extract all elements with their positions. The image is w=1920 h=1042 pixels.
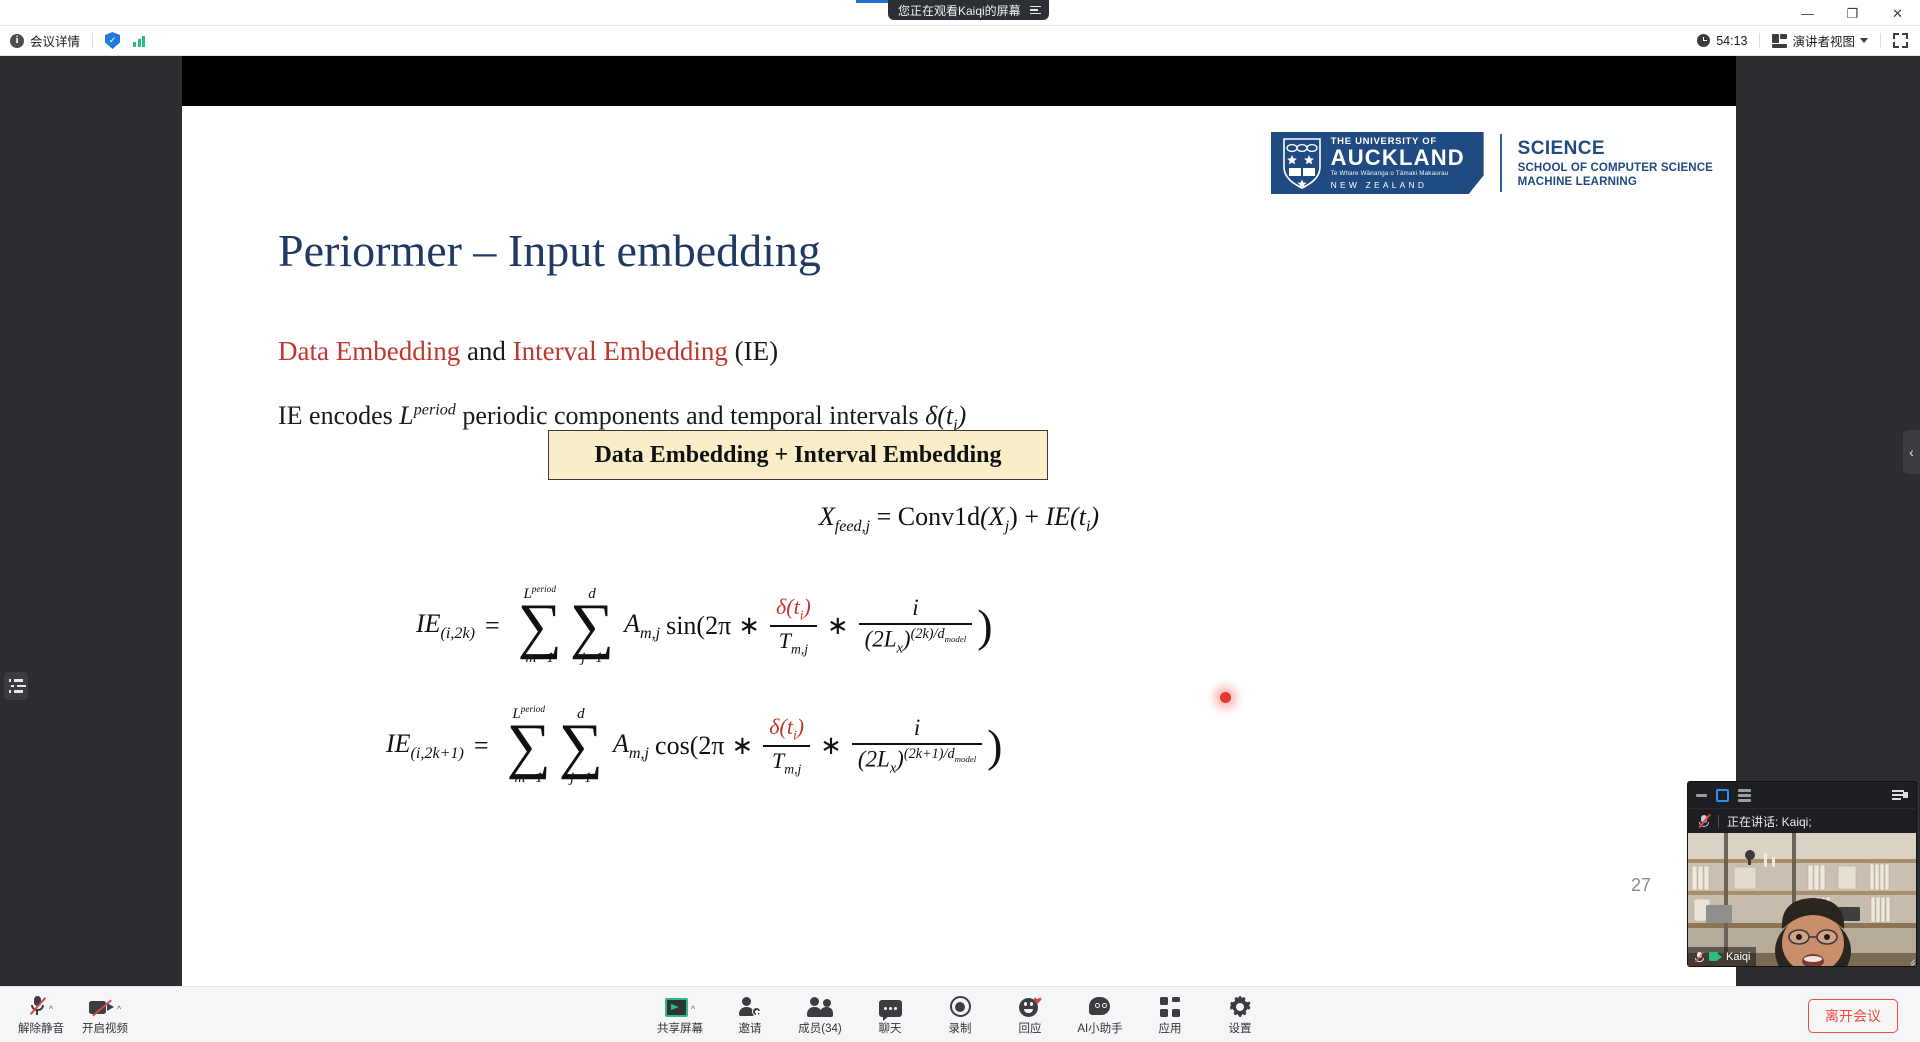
chevron-up-icon[interactable]: ^ — [49, 1004, 53, 1014]
logo-line-2: AUCKLAND — [1331, 147, 1465, 169]
eq1-sum-outer-sym: ∑ — [518, 600, 562, 653]
chevron-down-icon — [1860, 38, 1868, 43]
info-bar-right: 54:13 演讲者视图 — [1697, 31, 1920, 50]
unmute-icon-wrap: ^ — [29, 994, 53, 1017]
share-screen-icon-wrap: ^ — [665, 994, 695, 1017]
video-panel-header-right — [1892, 789, 1908, 801]
presentation-slide[interactable]: THE UNIVERSITY OF AUCKLAND Te Whare Wāna… — [182, 106, 1736, 1042]
slide-top-band — [182, 56, 1736, 106]
record-icon-wrap — [950, 994, 971, 1017]
unmute-button[interactable]: ^ 解除静音 — [10, 989, 72, 1041]
line-a-seg-2: and — [460, 336, 512, 366]
panel-toggle-line — [9, 690, 24, 693]
feed-ie-close: ) — [1090, 502, 1099, 531]
eq1-frac2-den-exp-sub: model — [945, 633, 967, 643]
reaction-label: 回应 — [1019, 1020, 1042, 1036]
eq2-frac1-den: Tm,j — [766, 749, 807, 777]
feed-lhs: X — [819, 502, 835, 531]
eq1-close-paren: ) — [977, 608, 992, 645]
participants-icon-wrap — [808, 994, 832, 1017]
divider — [1759, 33, 1760, 48]
divider — [1718, 815, 1719, 828]
eq2-lhs-text: IE — [386, 729, 411, 758]
chat-icon-wrap — [879, 994, 902, 1017]
view-mode-selector[interactable]: 演讲者视图 — [1772, 31, 1868, 50]
eq1-sum-inner-sym: ∑ — [570, 600, 614, 653]
record-icon — [950, 996, 971, 1017]
eq1-frac2-den-exp-a: (2k)/d — [911, 626, 945, 642]
ai-assistant-icon-wrap — [1088, 994, 1112, 1017]
mic-muted-icon — [1694, 951, 1705, 963]
eq2-fraction-1: δ(ti) Tm,j — [763, 715, 810, 777]
auckland-logo-block: THE UNIVERSITY OF AUCKLAND Te Whare Wāna… — [1271, 132, 1484, 194]
line-b-symbol: L — [399, 401, 413, 430]
window-icon[interactable] — [1716, 789, 1729, 802]
divider — [1880, 33, 1881, 48]
eq2-sum-inner: d ∑ j=1 — [559, 707, 603, 786]
equation-ie-sin: IE(i,2k) = Lperiod ∑ m=1 d ∑ j=1 Am,j si… — [416, 586, 993, 666]
invite-icon-wrap — [739, 994, 761, 1017]
chevron-up-icon[interactable]: ^ — [117, 1004, 121, 1014]
eq2-lhs: IE(i,2k+1) — [386, 729, 464, 763]
eq1-frac2-den-exp: (2k)/dmodel — [911, 626, 967, 642]
hamburger-icon[interactable] — [1030, 6, 1041, 15]
eq2-frac1-num-close: ) — [797, 714, 804, 739]
eq1-frac2-den-paren: ) — [903, 626, 911, 651]
maximize-button[interactable]: ❐ — [1830, 0, 1875, 26]
apps-icon — [1160, 997, 1180, 1017]
minimize-icon[interactable] — [1696, 794, 1707, 797]
record-button[interactable]: 录制 — [929, 989, 991, 1041]
eq2-sum-outer-sym: ∑ — [507, 720, 551, 773]
list-panel-icon[interactable] — [4, 672, 28, 700]
chevron-up-icon[interactable]: ^ — [691, 1004, 695, 1014]
layout-icon — [1772, 34, 1787, 48]
eq1-frac2-den-a: (2L — [865, 626, 897, 651]
eq2-equals: = — [474, 731, 489, 761]
auckland-logo-text: THE UNIVERSITY OF AUCKLAND Te Whare Wāna… — [1331, 137, 1465, 189]
eq2-sum-outer-bot: m=1 — [514, 771, 542, 786]
eq1-function: sin(2π — [666, 611, 731, 641]
start-video-button[interactable]: ^ 开启视频 — [74, 989, 136, 1041]
eq2-coef-sub: m,j — [629, 745, 649, 762]
minimize-button[interactable]: — — [1785, 0, 1830, 26]
shared-screen-stage: THE UNIVERSITY OF AUCKLAND Te Whare Wāna… — [0, 56, 1920, 986]
meeting-details-label: 会议详情 — [30, 31, 80, 50]
shield-check-icon[interactable]: ✓ — [105, 32, 120, 49]
eq2-frac1-num-a: δ(t — [769, 714, 793, 739]
line-b-superscript: period — [414, 401, 456, 418]
start-video-icon-wrap: ^ — [89, 994, 121, 1017]
eq1-frac1-num-close: ) — [804, 594, 811, 619]
eq2-frac1-den-a: T — [772, 748, 784, 773]
reaction-icon-wrap — [1019, 994, 1042, 1017]
apps-button[interactable]: 应用 — [1139, 989, 1201, 1041]
speaking-status-bar: 正在讲话: Kaiqi; — [1688, 808, 1916, 833]
mic-muted-icon — [1697, 814, 1710, 829]
faculty-line-2: SCHOOL OF COMPUTER SCIENCE — [1518, 161, 1713, 175]
video-thumbnail-panel[interactable]: 正在讲话: Kaiqi; — [1688, 782, 1916, 966]
equation-ie-cos: IE(i,2k+1) = Lperiod ∑ m=1 d ∑ j=1 Am,j … — [386, 706, 1003, 786]
eq1-frac1-bar — [770, 625, 817, 627]
line-a-seg-4: (IE) — [728, 336, 778, 366]
speaking-label: 正在讲话: Kaiqi; — [1727, 813, 1812, 830]
reaction-icon — [1019, 997, 1042, 1017]
video-feed[interactable]: Kaiqi — [1688, 833, 1916, 966]
eq2-frac1-den-sub: m,j — [784, 761, 801, 776]
participants-button[interactable]: 成员(34) — [789, 989, 851, 1041]
eq2-frac2-den-a: (2L — [858, 746, 890, 771]
info-icon: i — [10, 34, 24, 48]
line-b-delta-close: ) — [958, 401, 967, 430]
participants-label: 成员(34) — [798, 1020, 841, 1036]
eq2-fraction-2: i (2Lx)(2k+1)/dmodel — [852, 716, 982, 776]
eq1-sum-outer-bot: m=1 — [526, 651, 554, 666]
eq1-frac1-den: Tm,j — [773, 629, 814, 657]
eq1-lhs: IE(i,2k) — [416, 609, 475, 643]
feed-arg-close: ) — [1009, 502, 1018, 531]
signal-strength-icon[interactable] — [133, 34, 145, 47]
chat-label: 聊天 — [879, 1020, 902, 1036]
meeting-details-button[interactable]: i 会议详情 — [10, 31, 80, 50]
line-b-delta: δ(t — [925, 401, 953, 430]
expand-panel-icon[interactable] — [1892, 789, 1908, 801]
eq2-frac1-num: δ(ti) — [763, 715, 810, 743]
eq2-coef-sym: A — [613, 729, 629, 758]
crest-icon — [1281, 137, 1323, 189]
chat-button[interactable]: 聊天 — [859, 989, 921, 1041]
camera-off-icon — [89, 999, 114, 1017]
eq2-frac2-den-exp-sub: model — [955, 753, 977, 763]
camera-on-icon — [1709, 952, 1722, 961]
feed-arg: (X — [980, 502, 1005, 531]
share-screen-label: 共享屏幕 — [657, 1020, 703, 1036]
eq1-frac1-den-sub: m,j — [791, 641, 808, 656]
faculty-line-1: SCIENCE — [1518, 137, 1713, 161]
logo-divider — [1500, 134, 1502, 192]
start-video-label: 开启视频 — [82, 1020, 128, 1036]
highlight-box: Data Embedding + Interval Embedding — [548, 430, 1048, 480]
eq2-function: cos(2π — [655, 731, 724, 761]
toolbar-left-group: ^ 解除静音 ^ 开启视频 — [0, 987, 136, 1042]
info-bar-left: i 会议详情 ✓ — [0, 31, 145, 50]
resize-handle-icon[interactable] — [1903, 953, 1915, 965]
line-a-seg-3: Interval Embedding — [513, 336, 728, 366]
share-screen-button[interactable]: ^ 共享屏幕 — [649, 989, 711, 1041]
line-b-mid: periodic components and temporal interva… — [456, 401, 925, 430]
eq1-star-1: ∗ — [738, 611, 760, 641]
logo-line-4: NEW ZEALAND — [1331, 181, 1465, 190]
settings-label: 设置 — [1229, 1020, 1252, 1036]
eq2-star-2: ∗ — [820, 731, 842, 761]
line-b-pre: IE encodes — [278, 401, 399, 430]
chat-icon — [879, 1000, 902, 1017]
logo-line-3: Te Whare Wānanga o Tāmaki Makaurau — [1331, 171, 1465, 177]
clock-icon — [1697, 34, 1710, 47]
eq2-coefficient: Am,j — [613, 729, 649, 763]
close-button[interactable]: ✕ — [1875, 0, 1920, 26]
eq1-coef-sym: A — [624, 609, 640, 638]
eq2-sum-inner-bot: j=1 — [570, 771, 592, 786]
university-logo: THE UNIVERSITY OF AUCKLAND Te Whare Wāna… — [1271, 132, 1713, 194]
eq1-equals: = — [485, 611, 500, 641]
slide-number: 27 — [1631, 875, 1651, 896]
eq2-frac1-bar — [763, 745, 810, 747]
ai-assistant-icon — [1088, 997, 1112, 1017]
reaction-button[interactable]: 回应 — [999, 989, 1061, 1041]
ai-assistant-label: AI小助手 — [1077, 1020, 1122, 1036]
record-label: 录制 — [949, 1020, 972, 1036]
toolbar-center-group: ^ 共享屏幕 邀请 成员(34) 聊天 — [649, 987, 1271, 1042]
feed-plus: + — [1018, 502, 1046, 531]
eq2-frac2-den-exp: (2k+1)/dmodel — [904, 746, 976, 762]
apps-label: 应用 — [1159, 1020, 1182, 1036]
settings-gear-icon — [1230, 996, 1251, 1017]
eq2-close-paren: ) — [987, 728, 1002, 765]
stage-left-strip — [0, 112, 182, 1042]
laser-pointer-dot — [1220, 692, 1231, 703]
fullscreen-icon[interactable] — [1893, 33, 1908, 48]
invite-icon — [739, 997, 761, 1017]
divider — [92, 33, 93, 48]
eq2-frac2-den: (2Lx)(2k+1)/dmodel — [852, 747, 982, 777]
eq2-frac2-num: i — [908, 716, 926, 741]
share-screen-icon — [665, 998, 688, 1017]
participant-name: Kaiqi — [1726, 951, 1750, 963]
eq1-frac1-num: δ(ti) — [770, 595, 817, 623]
watching-screen-toast[interactable]: 您正在观看Kaiqi的屏幕 — [888, 0, 1049, 20]
eq1-sum-inner: d ∑ j=1 — [570, 587, 614, 666]
invite-button[interactable]: 邀请 — [719, 989, 781, 1041]
eq1-star-2: ∗ — [827, 611, 849, 641]
settings-icon-wrap — [1230, 994, 1251, 1017]
eq1-frac1-den-a: T — [779, 628, 791, 653]
faculty-logo-text: SCIENCE SCHOOL OF COMPUTER SCIENCE MACHI… — [1518, 137, 1713, 190]
video-panel-header — [1688, 782, 1916, 808]
faculty-line-3: MACHINE LEARNING — [1518, 175, 1713, 189]
view-mode-label: 演讲者视图 — [1792, 31, 1855, 50]
participants-icon — [808, 997, 832, 1017]
eq1-frac2-bar — [859, 623, 973, 625]
eq2-lhs-sub: (i,2k+1) — [411, 745, 464, 762]
eq2-sum-inner-sym: ∑ — [559, 720, 603, 773]
settings-button[interactable]: 设置 — [1209, 989, 1271, 1041]
meeting-window: — ❐ ✕ 您正在观看Kaiqi的屏幕 i 会议详情 ✓ 54:13 — [0, 0, 1920, 1042]
eq1-sum-outer: Lperiod ∑ m=1 — [518, 586, 562, 666]
apps-icon-wrap — [1160, 994, 1180, 1017]
meeting-timer: 54:13 — [1697, 34, 1747, 48]
eq1-fraction-2: i (2Lx)(2k)/dmodel — [859, 596, 973, 656]
list-view-icon[interactable] — [1738, 789, 1751, 802]
eq1-coefficient: Am,j — [624, 609, 660, 643]
eq1-coef-sub: m,j — [640, 625, 660, 642]
ai-assistant-button[interactable]: AI小助手 — [1069, 989, 1131, 1041]
participant-name-badge: Kaiqi — [1688, 947, 1756, 966]
slide-title: Periormer – Input embedding — [278, 224, 821, 277]
eq1-frac1-num-a: δ(t — [776, 594, 800, 619]
feed-eq: = Conv1d — [870, 502, 980, 531]
feed-lhs-sub: feed,j — [835, 518, 870, 535]
eq2-frac2-den-exp-a: (2k+1)/d — [904, 746, 955, 762]
eq1-fraction-1: δ(ti) Tm,j — [770, 595, 817, 657]
eq1-lhs-sub: (i,2k) — [441, 625, 475, 642]
eq2-sum-outer: Lperiod ∑ m=1 — [507, 706, 551, 786]
meeting-info-bar: i 会议详情 ✓ 54:13 演讲者视图 — [0, 26, 1920, 56]
eq1-sum-inner-bot: j=1 — [581, 651, 603, 666]
slide-line-a: Data Embedding and Interval Embedding (I… — [278, 336, 778, 367]
eq1-lhs-text: IE — [416, 609, 441, 638]
panel-toggle-line — [9, 679, 24, 682]
watching-screen-text: 您正在观看Kaiqi的屏幕 — [898, 2, 1021, 19]
line-a-seg-1: Data Embedding — [278, 336, 460, 366]
leave-meeting-button[interactable]: 离开会议 — [1808, 999, 1898, 1033]
eq2-star-1: ∗ — [731, 731, 753, 761]
window-controls: — ❐ ✕ — [1785, 0, 1920, 26]
eq1-frac2-num: i — [906, 596, 924, 621]
chevron-left-icon[interactable]: ‹ — [1903, 430, 1920, 474]
feed-ie: IE(t — [1046, 502, 1086, 531]
unmute-label: 解除静音 — [18, 1020, 64, 1036]
timer-value: 54:13 — [1716, 34, 1747, 48]
eq2-frac2-den-paren: ) — [896, 746, 904, 771]
eq2-frac2-bar — [852, 743, 982, 745]
invite-label: 邀请 — [739, 1020, 762, 1036]
mic-muted-icon — [29, 995, 46, 1017]
eq1-frac2-den: (2Lx)(2k)/dmodel — [859, 627, 973, 657]
panel-toggle-line — [6, 685, 26, 688]
meeting-toolbar: ^ 解除静音 ^ 开启视频 ^ 共享屏幕 — [0, 986, 1920, 1042]
equation-feed: Xfeed,j = Conv1d(Xj) + IE(ti) — [182, 502, 1736, 536]
